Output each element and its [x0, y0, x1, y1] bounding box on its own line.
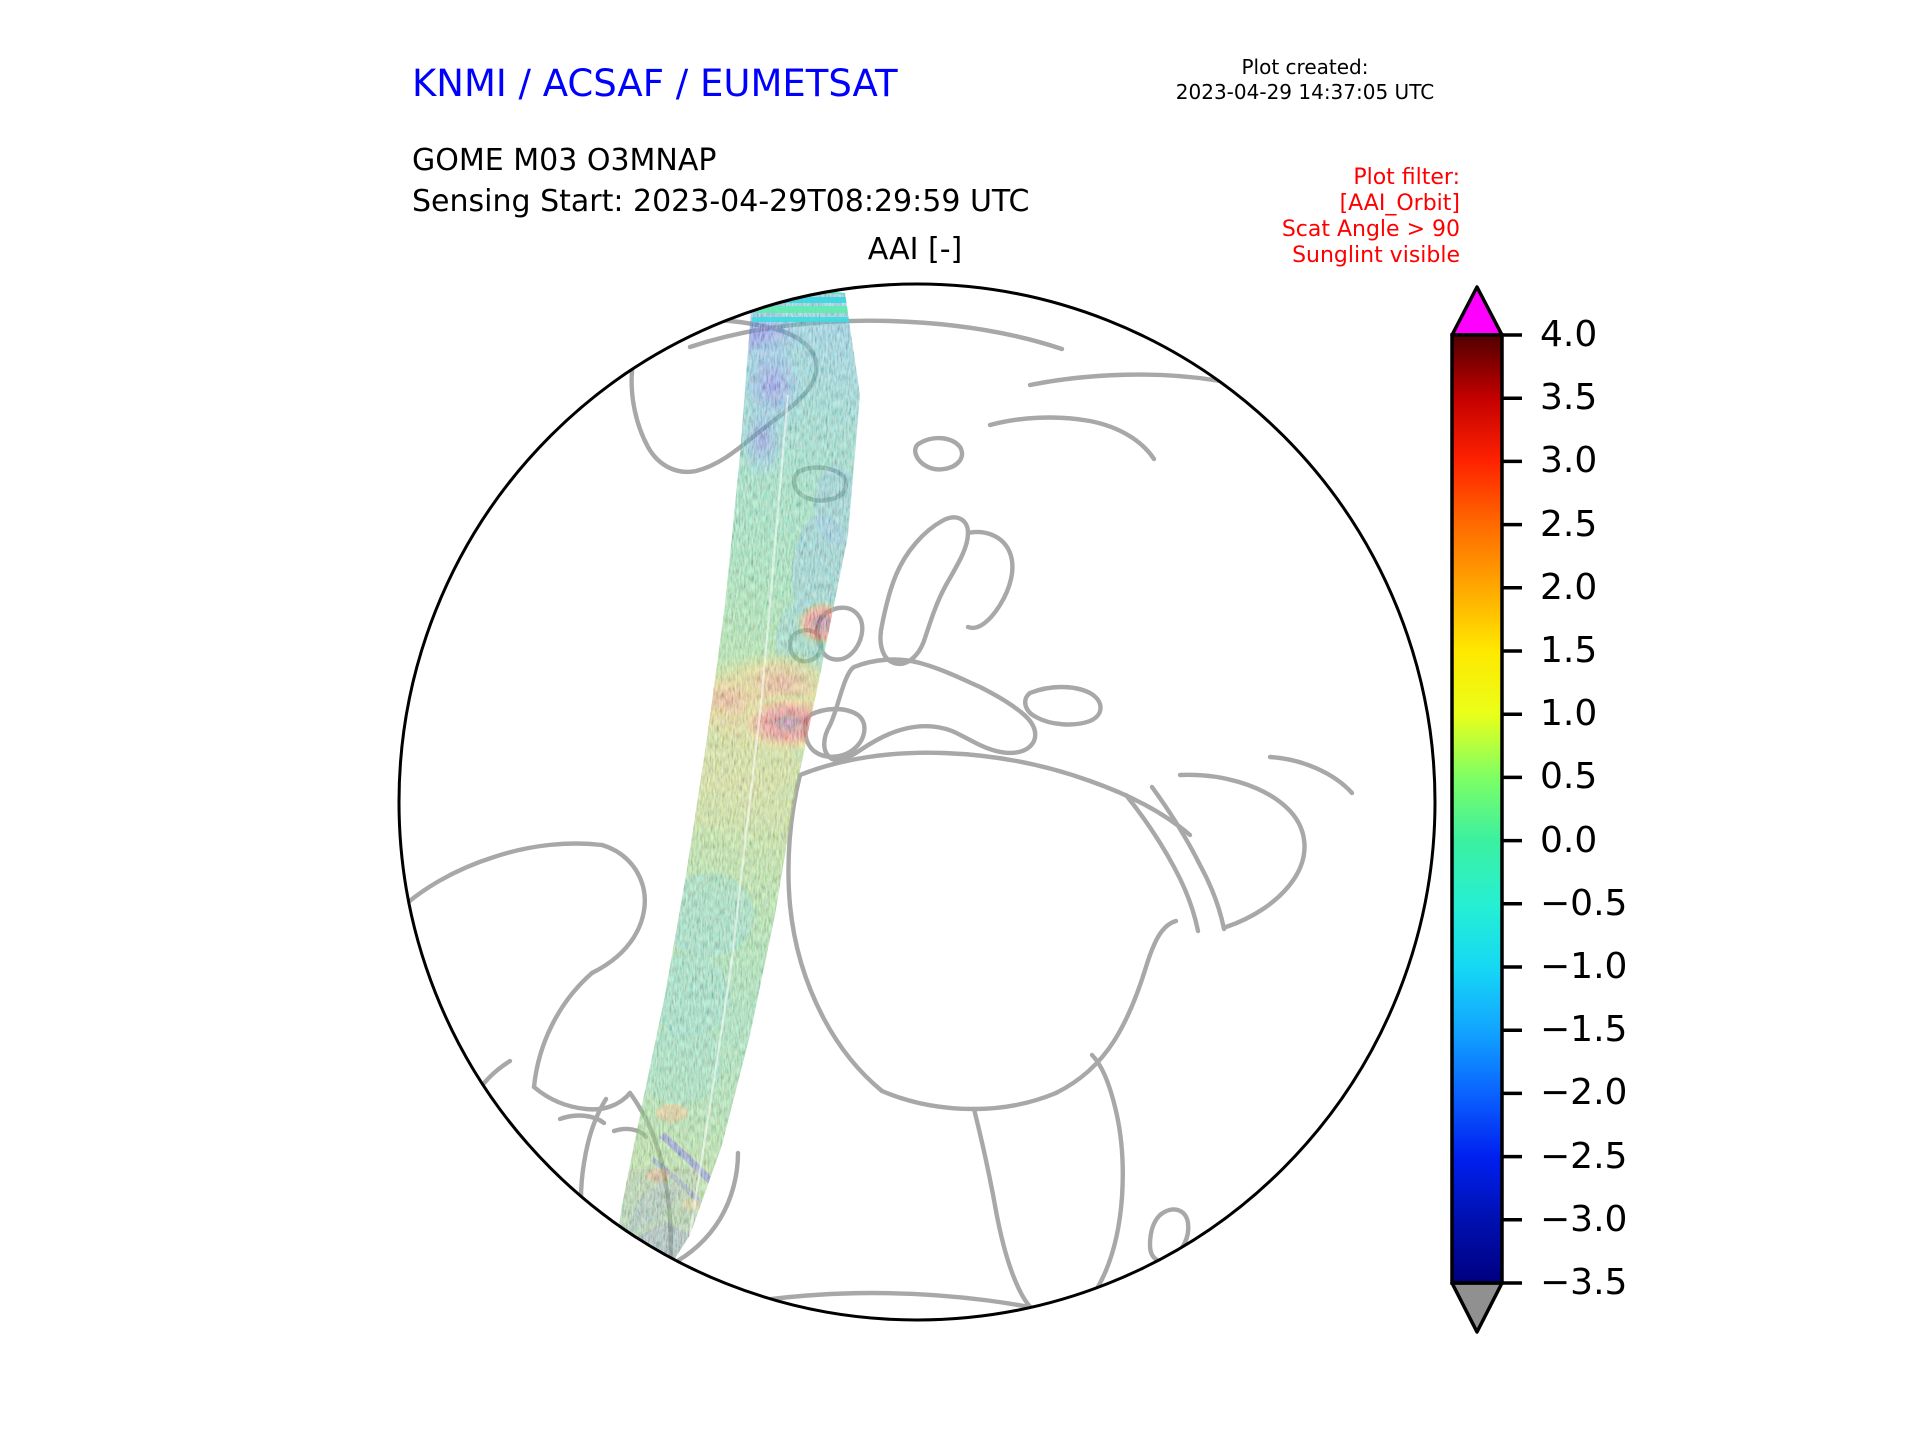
colorbar-tick-label-2: 3.0: [1540, 443, 1597, 479]
colorbar-tick-label-15: −3.5: [1540, 1265, 1627, 1301]
colorbar-tick-label-11: −1.5: [1540, 1012, 1627, 1048]
colorbar: 4.0 3.5 3.0 2.5 2.0 1.5 1.0 0.5 0.0 −0.5…: [1432, 280, 1872, 1340]
colorbar-over-arrow: [1452, 287, 1502, 335]
instrument-label: GOME M03 O3MNAP: [412, 140, 1029, 181]
colorbar-tick-label-14: −3.0: [1540, 1202, 1627, 1238]
colorbar-svg: [1432, 280, 1552, 1340]
parameter-title: AAI [-]: [705, 232, 1125, 267]
plot-filter-line-0: Plot filter:: [1180, 165, 1460, 191]
globe-map: [390, 275, 1450, 1340]
colorbar-tick-label-5: 1.5: [1540, 633, 1597, 669]
colorbar-tick-label-13: −2.5: [1540, 1139, 1627, 1175]
plot-filter-line-2: Scat Angle > 90: [1180, 217, 1460, 243]
plot-created-block: Plot created: 2023-04-29 14:37:05 UTC: [1110, 55, 1500, 105]
plot-created-value: 2023-04-29 14:37:05 UTC: [1110, 80, 1500, 105]
brand-title: KNMI / ACSAF / EUMETSAT: [412, 62, 898, 105]
plot-filter-block: Plot filter: [AAI_Orbit] Scat Angle > 90…: [1180, 165, 1460, 269]
colorbar-tick-label-7: 0.5: [1540, 759, 1597, 795]
colorbar-tick-label-4: 2.0: [1540, 570, 1597, 606]
dataset-subtitle-block: GOME M03 O3MNAP Sensing Start: 2023-04-2…: [412, 140, 1029, 222]
plot-canvas: KNMI / ACSAF / EUMETSAT Plot created: 20…: [0, 0, 1920, 1440]
sensing-start-label: Sensing Start: 2023-04-29T08:29:59 UTC: [412, 181, 1029, 222]
colorbar-ticks: [1502, 335, 1522, 1283]
colorbar-tick-label-3: 2.5: [1540, 507, 1597, 543]
plot-filter-line-3: Sunglint visible: [1180, 243, 1460, 269]
plot-filter-line-1: [AAI_Orbit]: [1180, 191, 1460, 217]
globe-map-svg: [390, 275, 1450, 1340]
colorbar-tick-label-1: 3.5: [1540, 380, 1597, 416]
colorbar-tick-label-6: 1.0: [1540, 696, 1597, 732]
plot-created-label: Plot created:: [1110, 55, 1500, 80]
colorbar-tick-label-9: −0.5: [1540, 886, 1627, 922]
colorbar-gradient: [1452, 335, 1502, 1283]
colorbar-tick-label-10: −1.0: [1540, 949, 1627, 985]
colorbar-tick-label-12: −2.0: [1540, 1075, 1627, 1111]
colorbar-tick-labels: 4.0 3.5 3.0 2.5 2.0 1.5 1.0 0.5 0.0 −0.5…: [1540, 280, 1720, 1340]
colorbar-under-arrow: [1452, 1283, 1502, 1332]
colorbar-tick-label-0: 4.0: [1540, 317, 1597, 353]
colorbar-tick-label-8: 0.0: [1540, 823, 1597, 859]
